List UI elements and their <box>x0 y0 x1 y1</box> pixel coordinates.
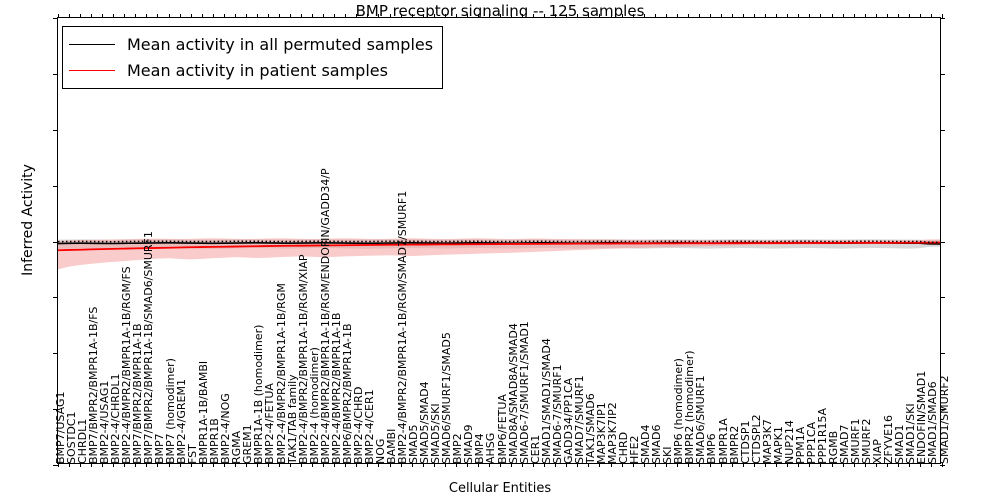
x-tick-label: SOSTDC1 <box>66 412 77 465</box>
x-tick-top <box>246 14 247 18</box>
x-tick-top <box>146 14 147 18</box>
x-tick-top <box>423 14 424 18</box>
x-tick-top <box>202 14 203 18</box>
x-tick-top <box>290 14 291 18</box>
x-tick-top <box>920 14 921 18</box>
x-tick-label: BMP6 <box>706 433 717 464</box>
y-tick-right <box>940 297 945 298</box>
x-tick-top <box>235 14 236 18</box>
x-tick-top <box>180 14 181 18</box>
x-tick-label: AHSG <box>485 433 496 464</box>
y-tick <box>53 18 58 19</box>
x-tick-top <box>843 14 844 18</box>
x-tick-top <box>323 14 324 18</box>
legend-swatch-patient <box>69 70 115 71</box>
x-tick-top <box>655 14 656 18</box>
x-tick-top <box>257 14 258 18</box>
x-tick-top <box>191 14 192 18</box>
x-tick-label: SMAD1/SMAD6 <box>927 381 938 464</box>
x-axis-label: Cellular Entities <box>0 481 1000 496</box>
x-tick-top <box>688 14 689 18</box>
x-tick-top <box>533 14 534 18</box>
x-tick-top <box>478 14 479 18</box>
x-tick-top <box>699 14 700 18</box>
x-tick-top <box>832 14 833 18</box>
x-tick-label: SMAD8A/SMAD8A/SMAD4 <box>508 323 519 464</box>
legend-swatch-permuted <box>69 44 115 45</box>
x-tick-top <box>544 14 545 18</box>
x-tick-label: CHRDL1 <box>77 419 88 464</box>
x-tick-top <box>124 14 125 18</box>
x-tick-label: TAK1/TAB family <box>287 374 298 464</box>
x-tick-top <box>577 14 578 18</box>
x-tick-label: BMPR1A <box>718 418 729 464</box>
x-tick-top <box>820 14 821 18</box>
legend: Mean activity in all permuted samples Me… <box>62 26 443 89</box>
x-tick-top <box>456 14 457 18</box>
y-tick <box>53 186 58 187</box>
x-tick-top <box>876 14 877 18</box>
x-tick-top <box>500 14 501 18</box>
x-tick-label: CTDSP1 <box>740 421 751 464</box>
x-tick-top <box>91 14 92 18</box>
x-tick-label: BMP2-4/BMPR2/BMPR1A-1B/RGM <box>276 283 287 464</box>
y-tick <box>53 74 58 75</box>
x-tick-top <box>754 14 755 18</box>
x-tick-top <box>445 14 446 18</box>
x-tick-top <box>157 14 158 18</box>
legend-label-permuted: Mean activity in all permuted samples <box>127 35 433 54</box>
x-tick-top <box>909 14 910 18</box>
x-tick-top <box>555 14 556 18</box>
x-tick-top <box>213 14 214 18</box>
y-tick-right <box>940 130 945 131</box>
x-tick-top <box>334 14 335 18</box>
x-tick-top <box>113 14 114 18</box>
y-tick-right <box>940 74 945 75</box>
x-tick-top <box>721 14 722 18</box>
x-tick-top <box>809 14 810 18</box>
x-tick-top <box>566 14 567 18</box>
x-tick-top <box>622 14 623 18</box>
y-tick <box>53 242 58 243</box>
x-tick-label: BMPR2 <box>729 426 740 464</box>
x-tick-top <box>169 14 170 18</box>
x-tick-top <box>599 14 600 18</box>
x-tick-top <box>412 14 413 18</box>
x-tick-label: BMP6/FETUA <box>497 394 508 464</box>
x-tick-top <box>854 14 855 18</box>
x-tick-top <box>798 14 799 18</box>
x-tick-top <box>279 14 280 18</box>
x-tick-top <box>633 14 634 18</box>
x-tick-label: BMP2-4 (homodimer) <box>309 347 320 464</box>
x-tick-top <box>80 14 81 18</box>
y-tick <box>53 297 58 298</box>
y-tick <box>53 353 58 354</box>
x-tick-label: CTDSPL2 <box>751 414 762 464</box>
figure: BMP receptor signaling -- 125 samples In… <box>0 0 1000 500</box>
x-tick-label: BMP2-4/BMPR2/BMPR1A-1B/RGM/SMAD7/SMURF1 <box>397 191 408 464</box>
x-tick-top <box>644 14 645 18</box>
x-tick-top <box>367 14 368 18</box>
x-tick-top <box>102 14 103 18</box>
x-tick-top <box>301 14 302 18</box>
y-tick-right <box>940 18 945 19</box>
x-tick-top <box>401 14 402 18</box>
x-tick-label: SMAD1/SMURF2 <box>939 375 950 464</box>
y-tick-right <box>940 353 945 354</box>
x-tick-label: BMP2-4/BMPR2/BMPR1A-1B/RGM/XIAP <box>298 255 309 464</box>
legend-item-patient: Mean activity in patient samples <box>69 57 433 83</box>
x-tick-top <box>268 14 269 18</box>
x-tick-top <box>710 14 711 18</box>
x-tick-top <box>511 14 512 18</box>
x-tick-top <box>224 14 225 18</box>
x-tick-top <box>434 14 435 18</box>
y-axis-label: Inferred Activity <box>20 100 36 340</box>
x-tick-top <box>312 14 313 18</box>
x-tick-top <box>522 14 523 18</box>
x-tick-top <box>378 14 379 18</box>
x-tick-top <box>356 14 357 18</box>
y-tick-right <box>940 242 945 243</box>
x-tick-top <box>69 14 70 18</box>
x-tick-top <box>345 14 346 18</box>
y-tick-right <box>940 186 945 187</box>
x-tick-top <box>743 14 744 18</box>
x-tick-top <box>865 14 866 18</box>
x-tick-top <box>776 14 777 18</box>
x-tick-top <box>898 14 899 18</box>
x-tick-label: CER1 <box>530 435 541 464</box>
x-tick-top <box>887 14 888 18</box>
x-tick-label: SMAD6-7/SMURF1/SMAD1 <box>519 321 530 464</box>
x-tick-label: BMP7/BMPR2/BMPR1A-1B/SMAD6/SMURF1 <box>143 231 154 464</box>
x-tick-top <box>931 14 932 18</box>
x-tick-top <box>58 14 59 18</box>
x-tick-top <box>390 14 391 18</box>
x-tick-top <box>677 14 678 18</box>
x-tick-top <box>467 14 468 18</box>
x-tick-label: BMP2-4/FETUA <box>264 383 275 464</box>
legend-item-permuted: Mean activity in all permuted samples <box>69 31 433 57</box>
x-tick-top <box>732 14 733 18</box>
x-tick-top <box>765 14 766 18</box>
x-tick-top <box>611 14 612 18</box>
x-tick-top <box>588 14 589 18</box>
x-tick-top <box>135 14 136 18</box>
legend-label-patient: Mean activity in patient samples <box>127 61 388 80</box>
x-tick-top <box>942 14 943 18</box>
x-tick-top <box>666 14 667 18</box>
x-tick-top <box>489 14 490 18</box>
y-tick <box>53 130 58 131</box>
x-tick-top <box>787 14 788 18</box>
x-tick-label: BMP7/USAG1 <box>55 392 66 464</box>
x-tick-label: BMP7/BMPR2/BMPR1A-1B/FS <box>88 307 99 464</box>
